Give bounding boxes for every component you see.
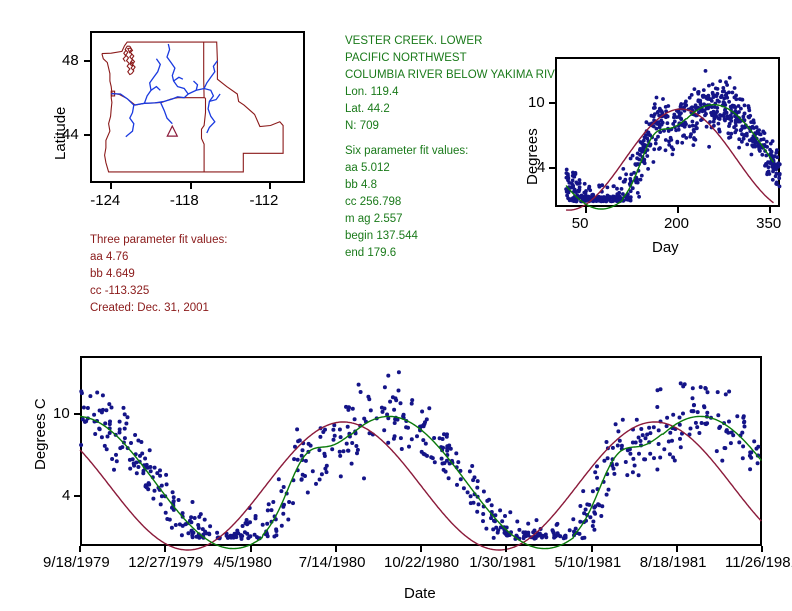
timeseries-three-param-curve bbox=[80, 422, 761, 550]
timeseries-data-point bbox=[749, 456, 753, 460]
scatter-data-point bbox=[637, 195, 641, 199]
scatter-data-point bbox=[711, 82, 715, 86]
timeseries-data-point bbox=[347, 406, 351, 410]
timeseries-data-point bbox=[122, 406, 126, 410]
timeseries-data-point bbox=[755, 447, 759, 451]
scatter-data-point bbox=[565, 190, 569, 194]
timeseries-data-point bbox=[485, 499, 489, 503]
timeseries-data-point bbox=[427, 406, 431, 410]
timeseries-data-point bbox=[186, 531, 190, 535]
scatter-data-point bbox=[721, 86, 725, 90]
map-john-day-river bbox=[160, 102, 172, 124]
timeseries-data-point bbox=[551, 530, 555, 534]
scatter-xtick-label: 50 bbox=[572, 215, 589, 232]
timeseries-data-point bbox=[110, 457, 114, 461]
timeseries-data-point bbox=[635, 418, 639, 422]
timeseries-data-point bbox=[606, 456, 610, 460]
timeseries-data-point bbox=[129, 441, 133, 445]
timeseries-data-point bbox=[282, 485, 286, 489]
timeseries-data-point bbox=[705, 421, 709, 425]
scatter-data-point bbox=[675, 141, 679, 145]
timeseries-data-point bbox=[339, 435, 343, 439]
map-willamette-river bbox=[126, 105, 134, 137]
scatter-data-point bbox=[778, 172, 782, 176]
timeseries-data-point bbox=[665, 416, 669, 420]
timeseries-data-point bbox=[484, 527, 488, 531]
map-or-id-border bbox=[202, 98, 206, 172]
timeseries-data-point bbox=[641, 433, 645, 437]
scatter-data-point bbox=[692, 128, 696, 132]
timeseries-data-point bbox=[351, 407, 355, 411]
map-tributary-b bbox=[174, 77, 183, 81]
scatter-data-point bbox=[571, 174, 575, 178]
scatter-data-point bbox=[771, 178, 775, 182]
timeseries-data-point bbox=[481, 512, 485, 516]
timeseries-data-point bbox=[149, 469, 153, 473]
scatter-data-point bbox=[645, 154, 649, 158]
scatter-data-point bbox=[599, 198, 603, 202]
timeseries-data-point bbox=[164, 511, 168, 515]
timeseries-data-point bbox=[563, 536, 567, 540]
scatter-data-point bbox=[646, 167, 650, 171]
scatter-data-point bbox=[770, 150, 774, 154]
timeseries-xtick bbox=[420, 546, 422, 552]
timeseries-data-point bbox=[740, 431, 744, 435]
scatter-data-point bbox=[656, 135, 660, 139]
map-wa-or-border bbox=[111, 93, 205, 105]
timeseries-data-point bbox=[703, 386, 707, 390]
timeseries-xlabel: Date bbox=[404, 585, 436, 602]
timeseries-data-point bbox=[652, 456, 656, 460]
scatter-data-point bbox=[634, 163, 638, 167]
timeseries-ytick-label: 4 bbox=[62, 487, 70, 504]
timeseries-data-point bbox=[346, 449, 350, 453]
timeseries-data-point bbox=[383, 385, 387, 389]
timeseries-data-point bbox=[477, 502, 481, 506]
timeseries-data-point bbox=[456, 460, 460, 464]
timeseries-data-point bbox=[633, 464, 637, 468]
timeseries-data-point bbox=[469, 494, 473, 498]
timeseries-data-point bbox=[692, 409, 696, 413]
timeseries-data-point bbox=[393, 421, 397, 425]
timeseries-data-point bbox=[135, 471, 139, 475]
timeseries-data-point bbox=[208, 524, 212, 528]
scatter-data-point bbox=[769, 142, 773, 146]
timeseries-data-point bbox=[86, 406, 90, 410]
timeseries-data-point bbox=[720, 459, 724, 463]
timeseries-data-point bbox=[151, 497, 155, 501]
timeseries-data-point bbox=[79, 443, 83, 447]
timeseries-data-point bbox=[625, 473, 629, 477]
timeseries-data-point bbox=[724, 429, 728, 433]
timeseries-data-point bbox=[459, 477, 463, 481]
scatter-data-point bbox=[758, 149, 762, 153]
scatter-data-point bbox=[695, 126, 699, 130]
timeseries-data-point bbox=[148, 448, 152, 452]
scatter-data-point bbox=[706, 96, 710, 100]
scatter-data-point bbox=[695, 121, 699, 125]
timeseries-data-point bbox=[535, 518, 539, 522]
timeseries-data-point bbox=[296, 458, 300, 462]
scatter-data-point bbox=[729, 135, 733, 139]
scatter-data-point bbox=[628, 177, 632, 181]
timeseries-data-point bbox=[106, 435, 110, 439]
timeseries-data-point bbox=[306, 491, 310, 495]
timeseries-data-point bbox=[303, 474, 307, 478]
timeseries-data-point bbox=[592, 506, 596, 510]
timeseries-data-point bbox=[195, 535, 199, 539]
scatter-data-point bbox=[703, 109, 707, 113]
timeseries-xtick bbox=[164, 546, 166, 552]
scatter-data-point bbox=[657, 147, 661, 151]
scatter-data-point bbox=[578, 178, 582, 182]
timeseries-data-point bbox=[333, 434, 337, 438]
timeseries-data-point bbox=[128, 467, 132, 471]
scatter-data-point bbox=[645, 137, 649, 141]
timeseries-data-point bbox=[100, 435, 104, 439]
timeseries-data-point bbox=[679, 445, 683, 449]
timeseries-data-point bbox=[742, 414, 746, 418]
timeseries-data-point bbox=[595, 476, 599, 480]
timeseries-data-point bbox=[756, 461, 760, 465]
timeseries-data-point bbox=[298, 438, 302, 442]
scatter-data-point bbox=[639, 178, 643, 182]
timeseries-data-point bbox=[148, 465, 152, 469]
scatter-data-point bbox=[759, 138, 763, 142]
timeseries-data-point bbox=[245, 532, 249, 536]
map-xtick-label: -124 bbox=[90, 192, 120, 209]
created-date: Created: Dec. 31, 2001 bbox=[90, 300, 227, 317]
scatter-data-point bbox=[774, 151, 778, 155]
scatter-data-point bbox=[737, 104, 741, 108]
timeseries-data-point bbox=[652, 425, 656, 429]
timeseries-data-point bbox=[325, 470, 329, 474]
timeseries-data-point bbox=[232, 536, 236, 540]
scatter-data-point bbox=[714, 112, 718, 116]
scatter-data-point bbox=[711, 91, 715, 95]
timeseries-data-point bbox=[723, 446, 727, 450]
timeseries-data-point bbox=[101, 393, 105, 397]
scatter-data-point bbox=[693, 87, 697, 91]
timeseries-data-point bbox=[407, 445, 411, 449]
scatter-data-point bbox=[763, 131, 767, 135]
timeseries-data-point bbox=[261, 523, 265, 527]
timeseries-data-point bbox=[611, 446, 615, 450]
timeseries-data-point bbox=[643, 457, 647, 461]
timeseries-data-point bbox=[271, 500, 275, 504]
timeseries-data-point bbox=[628, 452, 632, 456]
timeseries-data-point bbox=[555, 522, 559, 526]
scatter-data-point bbox=[747, 109, 751, 113]
three-param-header: Three parameter fit values: bbox=[90, 232, 227, 249]
scatter-data-point bbox=[718, 113, 722, 117]
timeseries-data-point bbox=[272, 535, 276, 539]
scatter-data-point bbox=[638, 153, 642, 157]
scatter-data-point bbox=[748, 114, 752, 118]
timeseries-data-point bbox=[410, 402, 414, 406]
timeseries-data-point bbox=[287, 500, 291, 504]
scatter-data-point bbox=[584, 191, 588, 195]
timeseries-data-point bbox=[591, 524, 595, 528]
scatter-data-point bbox=[621, 167, 625, 171]
timeseries-data-point bbox=[388, 400, 392, 404]
scatter-data-point bbox=[777, 176, 781, 180]
timeseries-data-point bbox=[581, 489, 585, 493]
timeseries-data-point bbox=[110, 406, 114, 410]
timeseries-data-point bbox=[605, 440, 609, 444]
scatter-data-point bbox=[615, 195, 619, 199]
timeseries-data-point bbox=[729, 441, 733, 445]
scatter-data-point bbox=[751, 145, 755, 149]
scatter-data-point bbox=[734, 97, 738, 101]
timeseries-data-point bbox=[571, 517, 575, 521]
scatter-data-point bbox=[718, 79, 722, 83]
timeseries-data-point bbox=[132, 464, 136, 468]
map-ytick-label: 48 bbox=[62, 52, 79, 69]
timeseries-data-point bbox=[716, 413, 720, 417]
timeseries-data-point bbox=[431, 456, 435, 460]
scatter-data-point bbox=[758, 132, 762, 136]
timeseries-data-point bbox=[386, 374, 390, 378]
timeseries-data-point bbox=[318, 435, 322, 439]
timeseries-data-point bbox=[639, 427, 643, 431]
timeseries-data-point bbox=[301, 448, 305, 452]
timeseries-data-point bbox=[128, 458, 132, 462]
scatter-xtick bbox=[769, 207, 771, 213]
scatter-xtick bbox=[677, 207, 679, 213]
map-outer-boundary bbox=[102, 42, 283, 172]
map-tributary-c bbox=[194, 81, 198, 90]
timeseries-data-point bbox=[338, 454, 342, 458]
timeseries-data-point bbox=[655, 405, 659, 409]
timeseries-data-point bbox=[265, 522, 269, 526]
timeseries-data-point bbox=[382, 428, 386, 432]
scatter-graphics bbox=[500, 45, 792, 265]
timeseries-data-point bbox=[394, 396, 398, 400]
scatter-data-point bbox=[724, 93, 728, 97]
timeseries-data-point bbox=[95, 391, 99, 395]
timeseries-xtick-label: 1/30/1981 bbox=[469, 554, 536, 571]
timeseries-data-point bbox=[345, 442, 349, 446]
scatter-data-point bbox=[707, 145, 711, 149]
timeseries-data-point bbox=[742, 420, 746, 424]
scatter-data-point bbox=[652, 115, 656, 119]
timeseries-data-point bbox=[534, 536, 538, 540]
scatter-data-point bbox=[666, 115, 670, 119]
timeseries-data-point bbox=[748, 467, 752, 471]
scatter-data-point bbox=[674, 128, 678, 132]
timeseries-data-point bbox=[84, 419, 88, 423]
timeseries-data-point bbox=[353, 417, 357, 421]
scatter-data-point bbox=[702, 88, 706, 92]
timeseries-data-point bbox=[267, 502, 271, 506]
timeseries-data-point bbox=[118, 420, 122, 424]
timeseries-data-point bbox=[731, 433, 735, 437]
scatter-data-point bbox=[612, 184, 616, 188]
timeseries-data-point bbox=[410, 437, 414, 441]
scatter-data-point bbox=[767, 165, 771, 169]
scatter-data-point bbox=[774, 182, 778, 186]
scatter-data-point bbox=[571, 179, 575, 183]
timeseries-data-point bbox=[189, 515, 193, 519]
timeseries-data-point bbox=[397, 370, 401, 374]
timeseries-data-point bbox=[558, 534, 562, 538]
timeseries-data-point bbox=[599, 514, 603, 518]
scatter-data-point bbox=[718, 130, 722, 134]
timeseries-data-point bbox=[515, 520, 519, 524]
timeseries-data-point bbox=[503, 514, 507, 518]
scatter-data-point bbox=[671, 148, 675, 152]
scatter-data-point bbox=[618, 176, 622, 180]
scatter-data-point bbox=[734, 121, 738, 125]
scatter-data-point bbox=[737, 146, 741, 150]
scatter-data-point bbox=[743, 112, 747, 116]
timeseries-xtick-label: 11/26/1981 bbox=[725, 554, 792, 571]
timeseries-data-point bbox=[98, 427, 102, 431]
timeseries-data-point bbox=[153, 466, 157, 470]
scatter-data-point bbox=[750, 153, 754, 157]
timeseries-data-point bbox=[593, 470, 597, 474]
timeseries-data-point bbox=[323, 428, 327, 432]
timeseries-data-point bbox=[118, 431, 122, 435]
timeseries-data-point bbox=[678, 437, 682, 441]
scatter-xtick-label: 200 bbox=[664, 215, 689, 232]
timeseries-data-point bbox=[330, 447, 334, 451]
timeseries-data-point bbox=[466, 490, 470, 494]
timeseries-data-point bbox=[369, 408, 373, 412]
timeseries-data-point bbox=[508, 510, 512, 514]
timeseries-data-point bbox=[124, 422, 128, 426]
scatter-three-param-curve bbox=[566, 109, 773, 210]
timeseries-data-point bbox=[274, 527, 278, 531]
timeseries-data-point bbox=[440, 457, 444, 461]
timeseries-data-point bbox=[634, 441, 638, 445]
map-station-marker bbox=[167, 126, 177, 136]
timeseries-data-point bbox=[317, 448, 321, 452]
scatter-data-point bbox=[718, 117, 722, 121]
timeseries-data-point bbox=[706, 390, 710, 394]
timeseries-data-point bbox=[662, 447, 666, 451]
timeseries-data-point bbox=[246, 536, 250, 540]
scatter-data-point bbox=[747, 104, 751, 108]
scatter-data-point bbox=[591, 193, 595, 197]
scatter-data-point bbox=[624, 172, 628, 176]
timeseries-data-point bbox=[380, 406, 384, 410]
scatter-data-point bbox=[660, 109, 664, 113]
scatter-data-point bbox=[611, 195, 615, 199]
timeseries-data-point bbox=[605, 493, 609, 497]
scatter-data-point bbox=[571, 184, 575, 188]
timeseries-data-point bbox=[104, 408, 108, 412]
timeseries-data-point bbox=[637, 436, 641, 440]
map-snake-river bbox=[188, 89, 215, 134]
scatter-data-point bbox=[645, 120, 649, 124]
scatter-data-point bbox=[678, 113, 682, 117]
timeseries-data-point bbox=[291, 501, 295, 505]
timeseries-data-point bbox=[402, 413, 406, 417]
timeseries-xtick bbox=[761, 546, 763, 552]
scatter-data-point bbox=[652, 125, 656, 129]
timeseries-data-point bbox=[587, 503, 591, 507]
timeseries-data-point bbox=[657, 442, 661, 446]
scatter-ytick-label: 10 bbox=[528, 94, 545, 111]
timeseries-data-point bbox=[108, 420, 112, 424]
timeseries-data-point bbox=[612, 472, 616, 476]
scatter-data-point bbox=[733, 131, 737, 135]
timeseries-data-point bbox=[455, 483, 459, 487]
timeseries-data-point bbox=[695, 425, 699, 429]
timeseries-data-point bbox=[597, 503, 601, 507]
timeseries-data-point bbox=[735, 414, 739, 418]
timeseries-data-point bbox=[578, 504, 582, 508]
scatter-ytick-label: 4 bbox=[537, 159, 545, 176]
annual-cycle-scatter-panel: Degrees Day 50200350410 bbox=[500, 45, 792, 265]
scatter-data-point bbox=[740, 132, 744, 136]
scatter-data-point bbox=[620, 187, 624, 191]
scatter-data-point bbox=[719, 95, 723, 99]
timeseries-data-point bbox=[172, 499, 176, 503]
map-clearwater-river bbox=[204, 61, 217, 89]
timeseries-data-point bbox=[584, 508, 588, 512]
timeseries-data-point bbox=[655, 468, 659, 472]
timeseries-data-point bbox=[447, 476, 451, 480]
timeseries-data-point bbox=[80, 391, 84, 395]
timeseries-data-point bbox=[170, 526, 174, 530]
timeseries-data-point bbox=[645, 433, 649, 437]
scatter-data-point bbox=[588, 188, 592, 192]
timeseries-data-point bbox=[670, 439, 674, 443]
timeseries-data-point bbox=[694, 421, 698, 425]
scatter-data-point bbox=[777, 161, 781, 165]
timeseries-data-point bbox=[354, 444, 358, 448]
scatter-data-point bbox=[743, 104, 747, 108]
scatter-data-point bbox=[707, 84, 711, 88]
scatter-data-point bbox=[606, 186, 610, 190]
scatter-data-point bbox=[778, 185, 782, 189]
timeseries-data-point bbox=[103, 444, 107, 448]
timeseries-data-point bbox=[727, 420, 731, 424]
timeseries-data-point bbox=[668, 431, 672, 435]
timeseries-data-point bbox=[588, 515, 592, 519]
timeseries-data-point bbox=[631, 470, 635, 474]
timeseries-data-point bbox=[592, 510, 596, 514]
timeseries-data-point bbox=[177, 498, 181, 502]
scatter-data-point bbox=[664, 148, 668, 152]
scatter-data-point bbox=[696, 90, 700, 94]
scatter-data-point bbox=[717, 122, 721, 126]
timeseries-data-point bbox=[500, 519, 504, 523]
scatter-data-point bbox=[714, 87, 718, 91]
timeseries-panel: Degrees C Date 9/18/197912/27/19794/5/19… bbox=[0, 340, 792, 611]
scatter-data-point bbox=[683, 105, 687, 109]
timeseries-data-point bbox=[490, 503, 494, 507]
timeseries-data-point bbox=[492, 536, 496, 540]
timeseries-data-point bbox=[138, 454, 142, 458]
timeseries-data-point bbox=[320, 472, 324, 476]
scatter-six-param-curve bbox=[566, 105, 773, 209]
scatter-data-point bbox=[598, 184, 602, 188]
timeseries-data-point bbox=[307, 442, 311, 446]
timeseries-xtick bbox=[591, 546, 593, 552]
timeseries-data-point bbox=[82, 406, 86, 410]
three-param-bb: bb 4.649 bbox=[90, 266, 227, 283]
scatter-data-point bbox=[641, 145, 645, 149]
scatter-data-point bbox=[737, 110, 741, 114]
scatter-data-point bbox=[693, 105, 697, 109]
scatter-data-point bbox=[745, 132, 749, 136]
timeseries-data-point bbox=[107, 402, 111, 406]
scatter-data-point bbox=[765, 140, 769, 144]
